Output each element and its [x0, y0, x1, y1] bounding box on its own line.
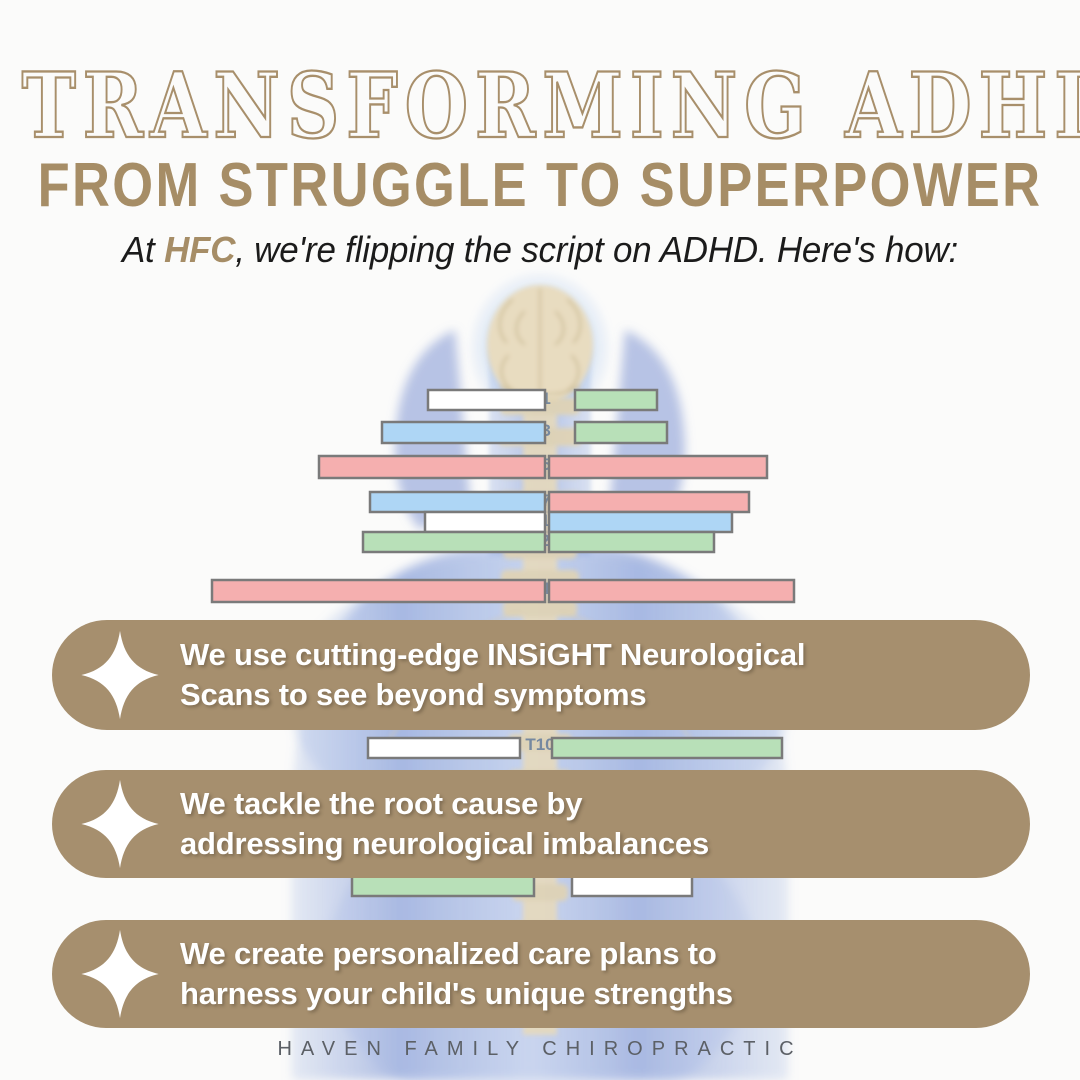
infographic-canvas: C1 C3 C5 C7 T1 T2 T4 T10 — [0, 0, 1080, 1080]
benefit-pill-3[interactable]: We create personalized care plans to har… — [52, 920, 1030, 1028]
sparkle-icon — [74, 629, 166, 721]
sparkle-icon — [74, 778, 166, 870]
footer-brand: HAVEN FAMILY CHIROPRACTIC — [0, 1038, 1080, 1061]
brain-icon — [487, 285, 593, 405]
benefit-text-2: We tackle the root cause by addressing n… — [180, 784, 709, 865]
intro-rest: , we're flipping the script on ADHD. Her… — [235, 229, 958, 270]
benefit-pill-2[interactable]: We tackle the root cause by addressing n… — [52, 770, 1030, 878]
brand-abbreviation: HFC — [164, 229, 235, 270]
intro-prefix: At — [122, 229, 164, 270]
header-block: TRANSFORMING ADHD: FROM STRUGGLE TO SUPE… — [0, 0, 1080, 271]
benefit-text-3: We create personalized care plans to har… — [180, 934, 733, 1015]
benefit-text-1: We use cutting-edge INSiGHT Neurological… — [180, 635, 805, 716]
sparkle-icon — [74, 928, 166, 1020]
svg-text:T10: T10 — [525, 735, 554, 754]
benefit-pill-1[interactable]: We use cutting-edge INSiGHT Neurological… — [52, 620, 1030, 730]
intro-line: At HFC, we're flipping the script on ADH… — [16, 203, 1064, 271]
